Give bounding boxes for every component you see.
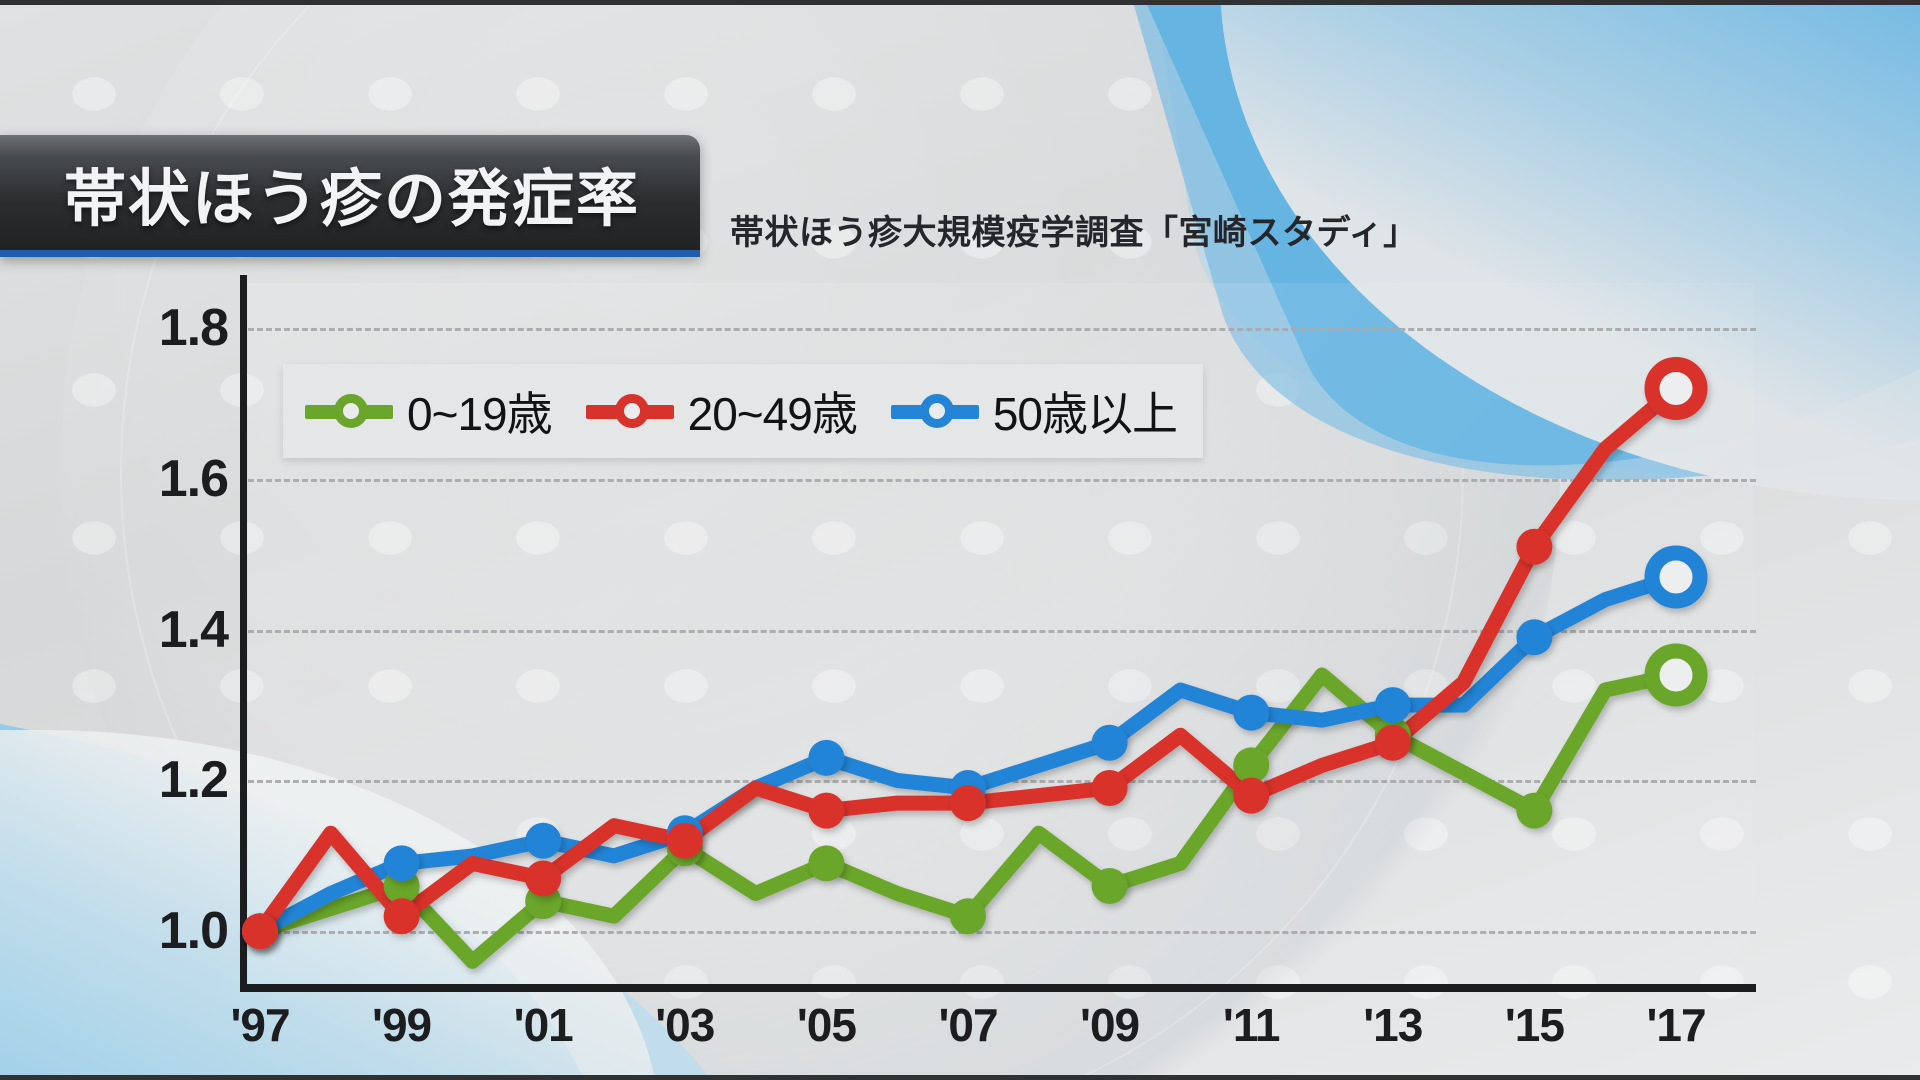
legend-marker-ring [334,394,368,428]
y-axis-tick-label: 1.4 [78,600,228,660]
x-axis-tick-label: '97 [230,998,289,1052]
top-bar [0,0,1920,5]
x-axis-tick-label: '07 [938,998,997,1052]
legend-marker-ring [615,394,649,428]
gridline-1.2 [248,780,1756,783]
gridline-1.6 [248,479,1756,482]
legend-item-label: 50歳以上 [993,378,1177,444]
x-axis-tick-label: '15 [1505,998,1564,1052]
x-axis-tick-label: '17 [1646,998,1705,1052]
page-title: 帯状ほう疹の発症率 [64,148,640,238]
x-axis-tick-label: '01 [514,998,573,1052]
legend-marker-ring [920,394,954,428]
gridline-1.4 [248,630,1756,633]
legend-item-label: 0~19歳 [407,378,552,444]
legend-item-3[interactable]: 50歳以上 [891,378,1177,444]
bottom-bar [0,1075,1920,1080]
chart-subtitle: 帯状ほう疹大規模疫学調査「宮崎スタディ」 [730,205,1418,254]
x-axis-line [240,984,1756,992]
x-axis-tick-label: '99 [372,998,431,1052]
y-axis-tick-label: 1.6 [78,449,228,509]
x-axis-tick-label: '09 [1080,998,1139,1052]
x-axis-tick-label: '05 [797,998,856,1052]
legend-item-1[interactable]: 0~19歳 [305,378,552,444]
y-axis-tick-label: 1.0 [78,901,228,961]
y-axis-tick-label: 1.2 [78,750,228,810]
title-plaque: 帯状ほう疹の発症率 [0,135,700,257]
x-axis-tick-label: '03 [655,998,714,1052]
x-axis-tick-label: '13 [1363,998,1422,1052]
x-axis-tick-label: '11 [1223,998,1280,1052]
line-marker-icon [586,394,674,428]
y-axis-line [240,275,247,991]
line-marker-icon [305,394,393,428]
gridline-1.0 [248,931,1756,934]
legend-item-2[interactable]: 20~49歳 [586,378,857,444]
y-axis-tick-label: 1.8 [78,298,228,358]
gridline-1.8 [248,328,1756,331]
chart-legend: 0~19歳20~49歳50歳以上 [283,364,1203,458]
legend-item-label: 20~49歳 [688,378,857,444]
line-marker-icon [891,394,979,428]
